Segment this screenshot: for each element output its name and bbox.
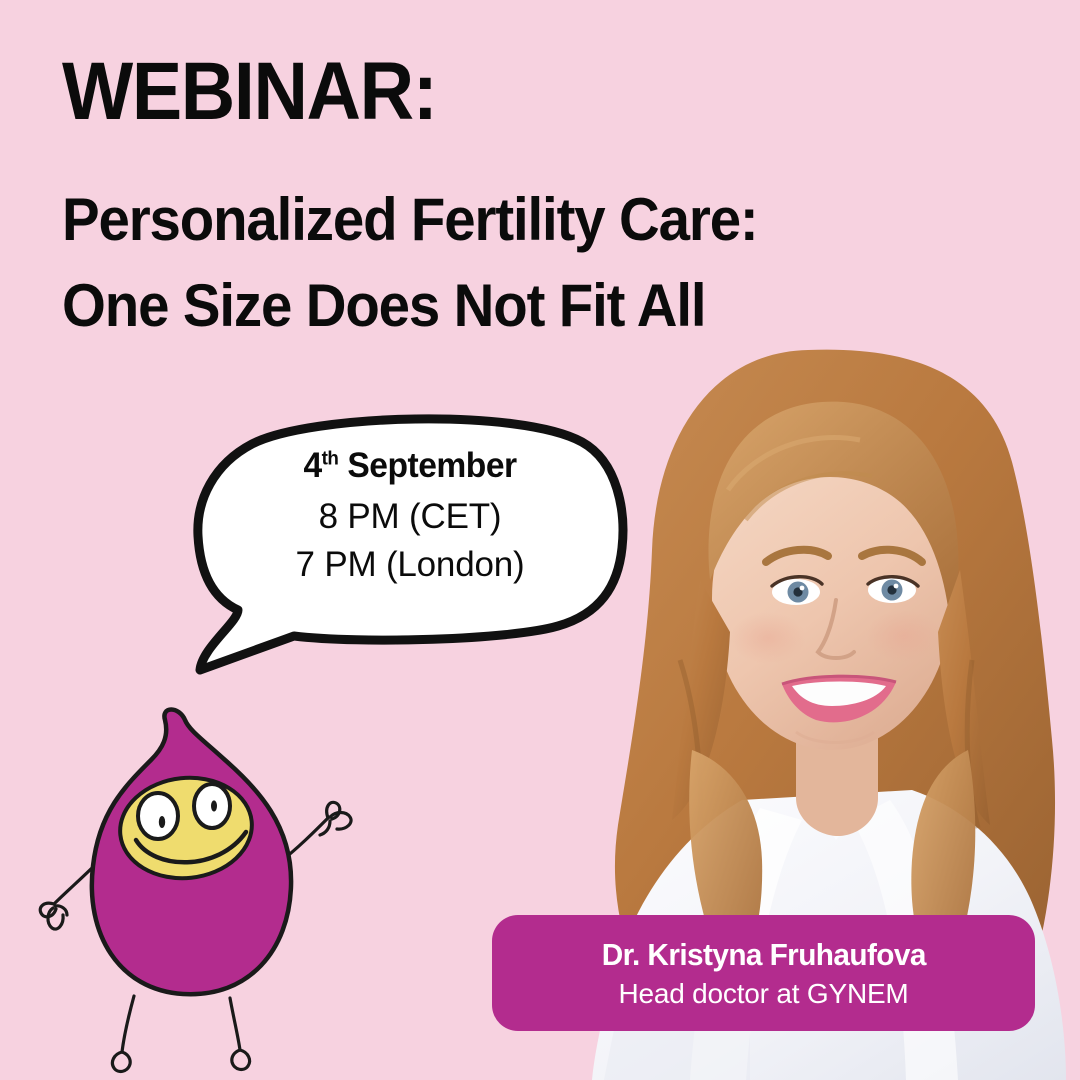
webinar-poster: GYNEM WEBINAR: Personalized Fertility Ca… <box>0 0 1080 1080</box>
heading-block: WEBINAR: Personalized Fertility Care: On… <box>62 52 942 336</box>
date-day: 4 <box>303 446 321 485</box>
date-month: September <box>347 446 516 485</box>
speaker-name-banner: Dr. Kristyna Fruhaufova Head doctor at G… <box>492 915 1035 1031</box>
speaker-role: Head doctor at GYNEM <box>618 978 908 1010</box>
webinar-time-london: 7 PM (London) <box>296 545 525 585</box>
page-kicker: WEBINAR: <box>62 52 872 132</box>
speaker-name: Dr. Kristyna Fruhaufova <box>601 937 925 973</box>
date-suffix: th <box>322 447 339 469</box>
webinar-time-cet: 8 PM (CET) <box>319 497 502 537</box>
bubble-text-group: 4th September 8 PM (CET) 7 PM (London) <box>190 408 630 638</box>
webinar-date: 4th September <box>303 446 516 486</box>
page-title-line-1: Personalized Fertility Care: <box>62 190 889 250</box>
date-speech-bubble: 4th September 8 PM (CET) 7 PM (London) <box>190 408 630 678</box>
droplet-mascot-shape <box>22 706 362 1080</box>
mascot-illustration <box>22 706 362 1080</box>
page-title-line-2: One Size Does Not Fit All <box>62 276 889 336</box>
